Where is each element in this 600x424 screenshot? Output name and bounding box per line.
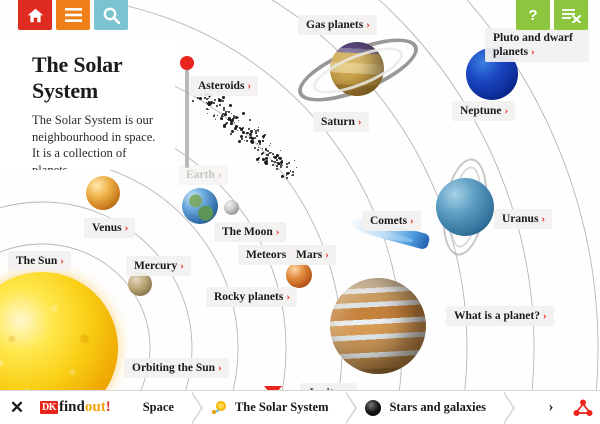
clear-list-button[interactable] [554,0,588,30]
asteroid-dot [236,118,237,119]
asteroid-dot [270,143,271,144]
hamburger-menu-icon [65,8,82,22]
asteroid-dot [214,99,216,101]
breadcrumb-label: The Solar System [235,400,329,415]
asteroid-dot [266,154,268,156]
asteroid-dot [238,120,239,121]
asteroid-dot [248,128,250,130]
asteroid-dot [296,167,297,168]
asteroid-dot [294,160,295,161]
asteroid-dot [208,109,209,110]
chevron-right-icon: › [505,105,509,117]
hotspot-label-text: Venus [92,222,122,234]
asteroid-dot [246,140,248,142]
asteroid-dot [240,135,243,138]
hotspot-label-text: The Sun [16,255,57,267]
asteroid-dot [256,133,257,134]
hotspot-label-text: Uranus [502,213,538,225]
asteroid-dot [207,113,208,114]
home-button[interactable] [18,0,52,30]
info-panel: The Solar System The Solar System is our… [0,40,175,170]
toolbar-right: ? [516,0,588,30]
toolbar-left [18,0,128,30]
asteroid-dot [206,98,208,100]
asteroid-dot [280,150,281,151]
hotspot-label-the-moon[interactable]: The Moon› [214,222,286,242]
search-icon [103,7,120,24]
hotspot-label-text: Saturn [321,116,355,128]
asteroid-dot [219,104,221,106]
asteroid-dot [222,96,225,99]
hotspot-label-the-sun[interactable]: The Sun› [8,251,71,271]
hotspot-label-text: What is a planet? [454,310,540,322]
asteroid-dot [232,118,234,120]
chevron-right-icon: › [218,362,222,374]
hotspot-label-text: Asteroids [198,80,244,92]
asteroid-dot [234,127,237,130]
chevron-right-icon: › [325,249,329,261]
asteroid-dot [257,149,259,151]
page-title: The Solar System [32,52,161,103]
search-button[interactable] [94,0,128,30]
chevron-right-icon: › [276,226,280,238]
asteroid-dot [276,159,278,161]
panel-line: It is a collection of planets [32,145,161,170]
breadcrumb-label: Stars and galaxies [389,400,486,415]
asteroid-dot [223,109,225,111]
asteroid-dot [228,111,230,113]
asteroid-dot [231,113,232,114]
panel-line: The Solar System is our [32,112,161,129]
hotspot-label-gas-planets[interactable]: Gas planets› [298,15,377,35]
earth-body[interactable] [182,188,218,224]
asteroid-dot [242,131,245,134]
breadcrumb-item-space[interactable]: Space [125,391,190,424]
hotspot-label-text: Gas planets [306,19,363,31]
hotspot-label-text: Mercury [134,260,177,272]
asteroid-dot [263,138,264,139]
asteroid-dot [276,168,278,170]
hotspot-label-text: Comets [370,215,407,227]
hotspot-label-orbiting-sun[interactable]: Orbiting the Sun› [124,358,229,378]
bottom-navigation-bar: ✕ DKfindout! Space The Solar System [0,390,600,424]
asteroid-dot [260,142,261,143]
breadcrumb-item-solar-system[interactable]: The Solar System [192,391,345,424]
asteroid-dot [229,104,232,107]
hotspot-label-pluto-dwarf[interactable]: Pluto and dwarf planets› [485,28,589,62]
next-button[interactable]: › [536,399,566,416]
uranus-body[interactable] [428,160,504,256]
hotspot-label-what-is-planet[interactable]: What is a planet?› [446,306,554,326]
hotspot-label-text: The Moon [222,226,273,238]
mars-body[interactable] [286,262,312,288]
chevron-right-icon: › [531,46,535,58]
asteroid-dot [249,119,251,121]
asteroid-dot [286,166,288,168]
asteroid-dot [259,143,261,145]
scrollbar-thumb[interactable] [180,56,194,70]
home-icon [27,8,44,23]
asteroid-dot [276,165,278,167]
asteroid-dot [234,122,235,123]
hotspot-label-text: Orbiting the Sun [132,362,215,374]
asteroid-dot [213,115,215,117]
asteroid-dot [215,119,216,120]
asteroid-dot [258,131,259,132]
user-network-button[interactable] [566,399,600,417]
asteroid-dot [269,145,270,146]
asteroid-dot [258,162,259,163]
asteroid-dot [262,148,263,149]
asteroid-dot [256,135,258,137]
chevron-right-icon: › [125,222,129,234]
asteroid-dot [252,140,254,142]
hotspot-label-earth[interactable]: Earth› [178,165,228,185]
scrollbar-track[interactable] [185,64,189,168]
asteroid-dot [288,162,290,164]
asteroid-dot [221,115,223,117]
asteroid-dot [254,137,256,139]
asteroid-dot [250,136,252,138]
asteroid-dot [280,164,282,166]
asteroid-dot [208,102,209,103]
asteroid-dot [242,112,245,115]
asteroid-dot [258,157,260,159]
hotspot-label-text: Neptune [460,105,502,117]
hotspot-label-text: Rocky planets [214,291,283,303]
asteroid-dot [292,174,294,176]
asteroid-dot [238,140,241,143]
dk-logo-mark: DK [40,401,58,414]
asteroid-dot [244,140,245,141]
asteroid-dot [250,130,253,133]
hotspot-label-text: Meteors [246,249,286,261]
asteroid-dot [258,147,259,148]
chevron-right-icon: › [410,215,414,227]
asteroid-dot [280,166,282,168]
hotspot-label-text: Earth [186,169,215,181]
moon-body[interactable] [224,200,239,215]
asteroid-dot [209,97,210,98]
panel-line: neighbourhood in space. [32,129,161,146]
chevron-right-icon: › [180,260,184,272]
asteroid-dot [226,122,228,124]
menu-button[interactable] [56,0,90,30]
dark-sphere-icon [364,399,382,417]
list-with-x-icon [562,8,581,23]
close-button[interactable]: ✕ [0,398,34,418]
logo-bang: ! [106,399,111,416]
asteroid-dot [240,128,243,131]
breadcrumb-item-stars-galaxies[interactable]: Stars and galaxies [346,391,502,424]
hotspot-label-mars[interactable]: Mars› [288,245,336,265]
asteroid-dot [262,140,264,142]
user-network-icon [573,399,593,417]
logo-find: find [59,399,85,416]
asteroid-dot [231,130,234,133]
help-button[interactable]: ? [516,0,550,30]
asteroid-dot [271,160,273,162]
hotspot-label-neptune[interactable]: Neptune› [452,101,515,121]
dk-findout-logo[interactable]: DKfindout! [34,399,125,416]
asteroid-dot [272,153,274,155]
logo-out: out [85,399,106,416]
asteroid-dot [216,105,218,107]
hotspot-label-comets[interactable]: Comets› [362,211,421,231]
svg-text:?: ? [528,7,537,24]
breadcrumb-label: Space [143,400,174,415]
hotspot-label-venus[interactable]: Venus› [84,218,135,238]
chevron-right-icon: › [60,255,64,267]
vertical-scrollbar[interactable] [180,56,194,168]
asteroid-dot [223,125,226,128]
asteroid-dot [223,116,224,117]
hotspot-label-asteroids[interactable]: Asteroids› [190,76,258,96]
panel-body-text: The Solar System is our neighbourhood in… [32,112,161,170]
hotspot-label-saturn[interactable]: Saturn› [313,112,369,132]
solar-system-interactive: ? The Solar System [0,0,600,424]
chevron-right-icon: › [218,169,222,181]
asteroid-dot [245,136,247,138]
asteroid-dot [197,97,199,99]
asteroid-dot [199,97,202,100]
hotspot-label-uranus[interactable]: Uranus› [494,209,552,229]
sun-comet-icon [210,399,228,417]
chevron-right-icon: › [247,80,251,92]
asteroid-dot [254,147,256,149]
hotspot-label-mercury[interactable]: Mercury› [126,256,191,276]
asteroid-dot [222,119,223,120]
saturn-body[interactable] [296,26,422,110]
asteroid-dot [217,115,218,116]
close-icon: ✕ [10,398,24,418]
chevron-right-icon: › [286,291,290,303]
asteroid-dot [274,161,276,163]
question-mark-icon: ? [526,6,540,24]
chevron-right-icon: › [358,116,362,128]
asteroid-dot [213,102,215,104]
hotspot-label-text: Mars [296,249,322,261]
chevron-right-icon: › [541,213,545,225]
jupiter-body[interactable] [330,278,426,374]
hotspot-label-rocky-planets[interactable]: Rocky planets› [206,287,297,307]
venus-body[interactable] [86,176,120,210]
asteroid-dot [262,152,264,154]
asteroid-dot [230,122,233,125]
asteroid-dot [237,130,238,131]
asteroid-dot [272,164,274,166]
asteroid-dot [286,177,288,179]
chevron-right-icon: › [543,310,547,322]
uranus-sphere [436,178,494,236]
chevron-right-icon: › [366,19,370,31]
